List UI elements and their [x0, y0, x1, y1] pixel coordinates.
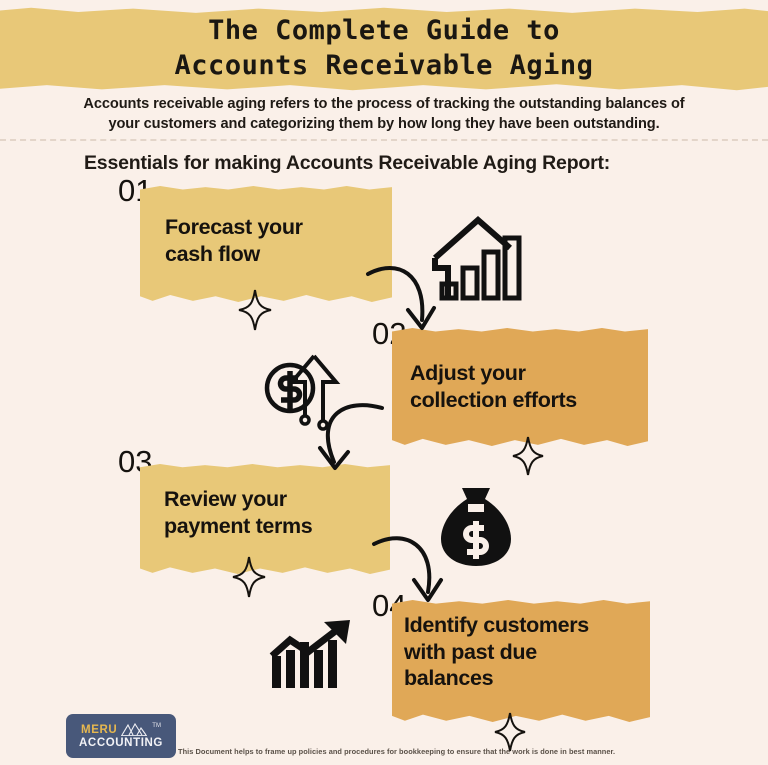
logo-top-row: MERU TM — [81, 723, 161, 736]
dashed-divider — [0, 139, 768, 141]
sparkle-icon — [232, 556, 266, 598]
step-block-02: Adjust your collection efforts — [392, 328, 648, 446]
step-label-01: Forecast your cash flow — [165, 214, 380, 267]
logo-trademark: TM — [152, 723, 161, 729]
step-block-04: Identify customers with past due balance… — [392, 600, 650, 722]
sparkle-icon — [494, 712, 526, 752]
flow-arrow-02-to-03 — [306, 400, 386, 480]
meru-accounting-logo[interactable]: MERU TM ACCOUNTING — [66, 714, 176, 758]
page-subtitle: Accounts receivable aging refers to the … — [40, 94, 728, 134]
section-heading: Essentials for making Accounts Receivabl… — [84, 152, 704, 175]
step-label-03: Review your payment terms — [164, 486, 376, 539]
logo-primary-text: MERU — [81, 724, 117, 736]
growth-chart-icon — [266, 616, 362, 692]
sparkle-icon — [512, 436, 544, 476]
step-label-04: Identify customers with past due balance… — [404, 612, 648, 692]
house-bar-chart-icon — [432, 206, 528, 306]
logo-secondary-text: ACCOUNTING — [79, 737, 163, 749]
step-label-02: Adjust your collection efforts — [410, 360, 640, 413]
mountain-icon — [121, 723, 147, 736]
flow-arrow-01-to-02 — [364, 258, 444, 344]
infographic-page: The Complete Guide to Accounts Receivabl… — [0, 0, 768, 765]
flow-arrow-03-to-04 — [370, 530, 450, 614]
page-title: The Complete Guide to Accounts Receivabl… — [0, 14, 768, 83]
step-block-01: Forecast your cash flow — [140, 186, 392, 302]
footer-fine-print: This Document helps to frame up policies… — [178, 747, 698, 756]
sparkle-icon — [238, 289, 272, 331]
